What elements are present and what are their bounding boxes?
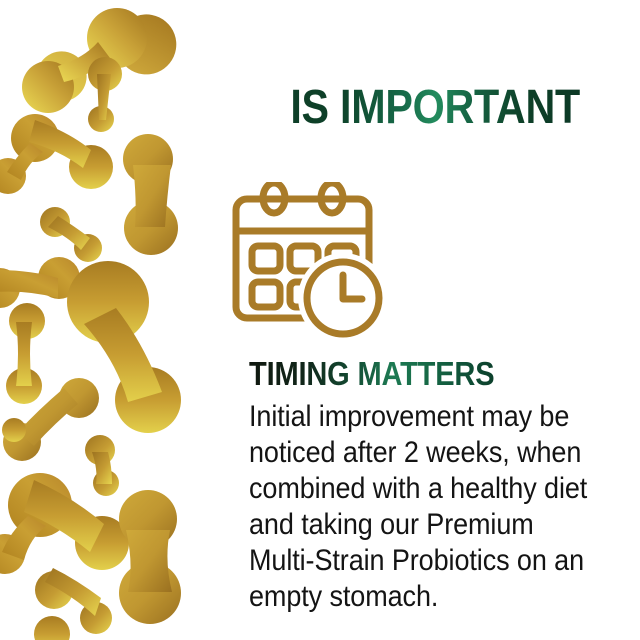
blob-5 bbox=[40, 207, 102, 262]
body-line: empty stomach. bbox=[249, 579, 566, 615]
blob-2 bbox=[88, 57, 122, 132]
body-line: combined with a healthy diet bbox=[249, 471, 566, 507]
body-line: and taking our Premium bbox=[249, 507, 566, 543]
blob-8 bbox=[6, 303, 45, 404]
body-paragraph: Initial improvement may be noticed after… bbox=[249, 399, 601, 615]
body-line: noticed after 2 weeks, when bbox=[249, 435, 566, 471]
blob-4 bbox=[123, 134, 178, 255]
section-heading: TIMING MATTERS bbox=[249, 357, 494, 390]
gold-blob-pattern bbox=[0, 0, 195, 640]
body-line: Multi-Strain Probiotics on an bbox=[249, 543, 566, 579]
page-subtitle: IS IMPORTANT bbox=[245, 84, 580, 133]
calendar-clock-icon bbox=[230, 182, 390, 340]
calendar-clock-icon-svg bbox=[230, 182, 390, 340]
calendar-cell-1 bbox=[252, 246, 280, 271]
infographic-card: CONSISTENCY IS IMPORTANT bbox=[0, 0, 640, 640]
blob-10 bbox=[85, 435, 119, 496]
body-line: Initial improvement may be bbox=[249, 399, 566, 435]
blob-12 bbox=[119, 490, 181, 624]
content-column: CONSISTENCY IS IMPORTANT bbox=[190, 0, 640, 640]
gold-blob-pattern-svg bbox=[0, 0, 195, 640]
page-title: CONSISTENCY bbox=[245, 22, 580, 82]
calendar-cell-4 bbox=[252, 282, 280, 307]
headline-block: CONSISTENCY IS IMPORTANT bbox=[190, 22, 580, 132]
